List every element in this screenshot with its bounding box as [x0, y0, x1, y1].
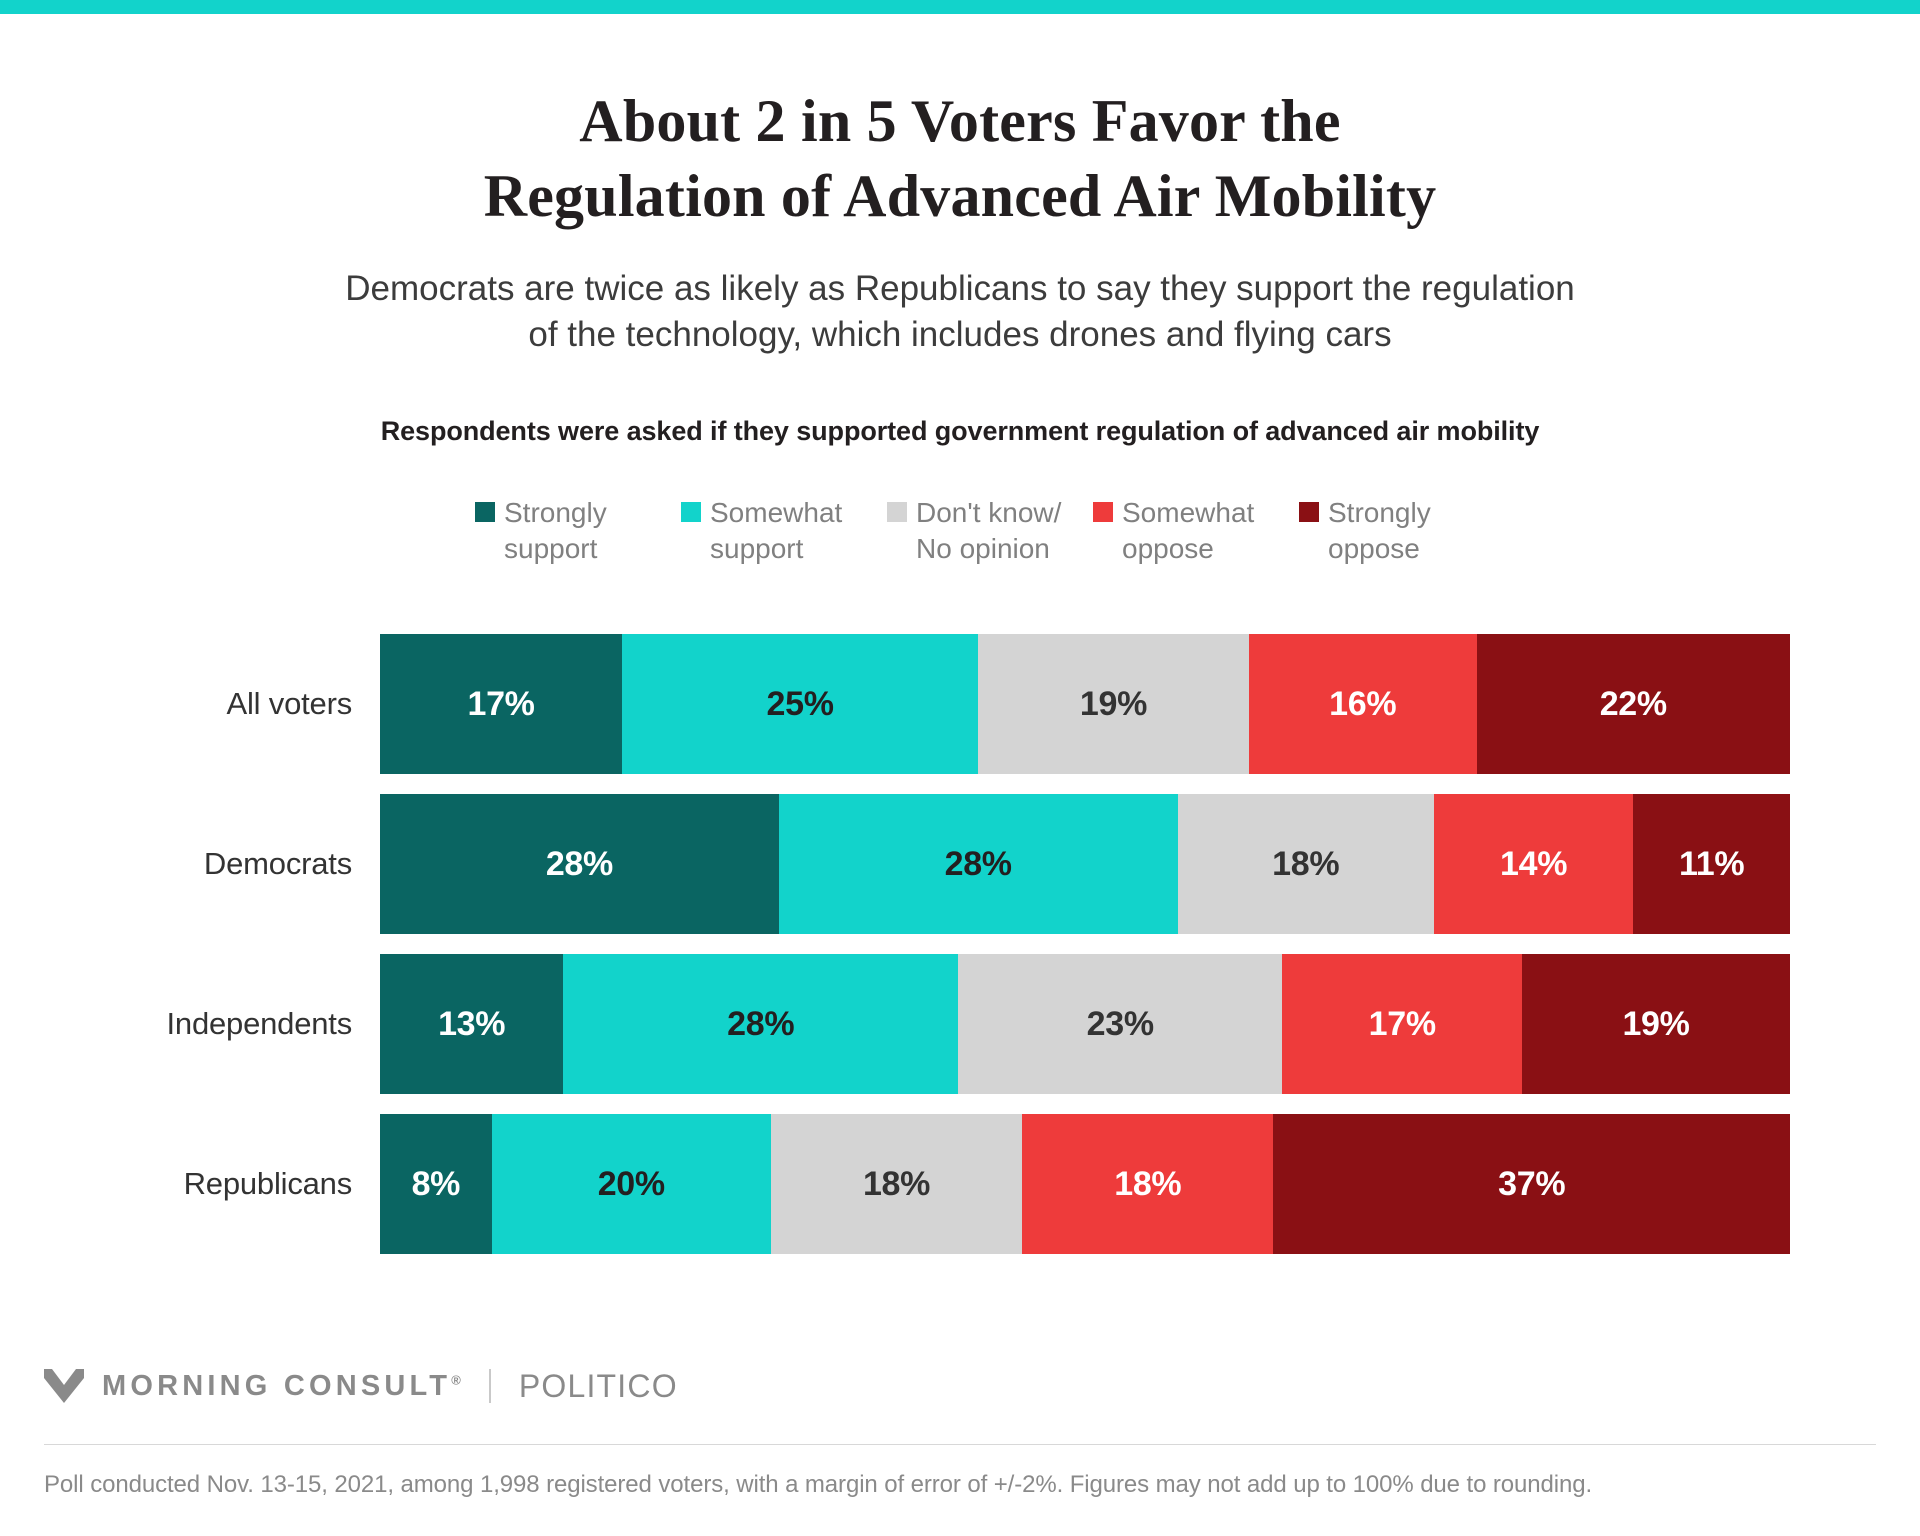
chart-row-label: Independents: [0, 1006, 380, 1042]
brand-name-politico: POLITICO: [519, 1368, 678, 1405]
brand-divider: [489, 1369, 491, 1403]
legend-swatch-icon: [681, 502, 701, 522]
chart-row-bar: 13%28%23%17%19%: [380, 954, 1790, 1094]
page-title: About 2 in 5 Voters Favor the Regulation…: [0, 14, 1920, 234]
chart-row-label: All voters: [0, 686, 380, 722]
chart-bar-segment: 13%: [380, 954, 563, 1094]
chart-bar-segment: 11%: [1633, 794, 1790, 934]
page-subtitle-line-1: Democrats are twice as likely as Republi…: [0, 266, 1920, 312]
registered-trademark-icon: ®: [451, 1372, 461, 1387]
chart-bar-segment: 28%: [779, 794, 1178, 934]
chart-bar-segment: 23%: [958, 954, 1282, 1094]
footnote: Poll conducted Nov. 13-15, 2021, among 1…: [0, 1445, 1920, 1499]
chart-bar-segment: 18%: [1022, 1114, 1273, 1254]
page-subtitle-line-2: of the technology, which includes drones…: [0, 312, 1920, 358]
chart-row: Independents13%28%23%17%19%: [0, 954, 1920, 1094]
chart-row-label: Democrats: [0, 846, 380, 882]
legend-swatch-icon: [887, 502, 907, 522]
legend-item-dont-know: Don't know/ No opinion: [887, 495, 1093, 567]
chart-question: Respondents were asked if they supported…: [0, 358, 1920, 447]
infographic-canvas: About 2 in 5 Voters Favor the Regulation…: [0, 14, 1920, 1536]
chart-row-bar: 17%25%19%16%22%: [380, 634, 1790, 774]
chart-bar-segment: 25%: [622, 634, 978, 774]
chart-row: All voters17%25%19%16%22%: [0, 634, 1920, 774]
legend-item-strongly-oppose: Strongly oppose: [1299, 495, 1505, 567]
page-title-line-2: Regulation of Advanced Air Mobility: [0, 159, 1920, 234]
chart-bar-segment: 19%: [978, 634, 1249, 774]
chart-row: Democrats28%28%18%14%11%: [0, 794, 1920, 934]
legend-label: Somewhat oppose: [1122, 495, 1254, 567]
chart-bar-segment: 16%: [1249, 634, 1477, 774]
page-title-line-1: About 2 in 5 Voters Favor the: [0, 84, 1920, 159]
chart-bar-segment: 8%: [380, 1114, 492, 1254]
chart-bar-segment: 19%: [1522, 954, 1790, 1094]
morning-consult-logo-icon: [44, 1369, 84, 1403]
chart-bar-segment: 14%: [1434, 794, 1633, 934]
chart-bar-segment: 18%: [1178, 794, 1434, 934]
chart-bar-segment: 22%: [1477, 634, 1790, 774]
chart-bar-segment: 17%: [380, 634, 622, 774]
chart-row-label: Republicans: [0, 1166, 380, 1202]
chart-row-bar: 8%20%18%18%37%: [380, 1114, 1790, 1254]
legend-item-strongly-support: Strongly support: [475, 495, 681, 567]
legend-swatch-icon: [1299, 502, 1319, 522]
legend-item-somewhat-oppose: Somewhat oppose: [1093, 495, 1299, 567]
chart-bar-segment: 20%: [492, 1114, 771, 1254]
accent-top-bar: [0, 0, 1920, 14]
chart-row-bar: 28%28%18%14%11%: [380, 794, 1790, 934]
legend-label: Somewhat support: [710, 495, 842, 567]
stacked-bar-chart: All voters17%25%19%16%22%Democrats28%28%…: [0, 634, 1920, 1274]
legend-swatch-icon: [475, 502, 495, 522]
chart-bar-segment: 28%: [380, 794, 779, 934]
chart-footer: MORNING CONSULT® POLITICO Poll conducted…: [0, 1354, 1920, 1499]
chart-bar-segment: 37%: [1273, 1114, 1790, 1254]
page-subtitle: Democrats are twice as likely as Republi…: [0, 234, 1920, 358]
brand-bar: MORNING CONSULT® POLITICO: [0, 1354, 1920, 1418]
legend-label: Strongly oppose: [1328, 495, 1431, 567]
chart-bar-segment: 28%: [563, 954, 958, 1094]
chart-legend: Strongly support Somewhat support Don't …: [0, 447, 1920, 567]
legend-item-somewhat-support: Somewhat support: [681, 495, 887, 567]
legend-label: Strongly support: [504, 495, 607, 567]
chart-bar-segment: 18%: [771, 1114, 1022, 1254]
chart-bar-segment: 17%: [1282, 954, 1522, 1094]
chart-row: Republicans8%20%18%18%37%: [0, 1114, 1920, 1254]
legend-label: Don't know/ No opinion: [916, 495, 1061, 567]
legend-swatch-icon: [1093, 502, 1113, 522]
brand-name-morning-consult: MORNING CONSULT®: [102, 1370, 461, 1403]
